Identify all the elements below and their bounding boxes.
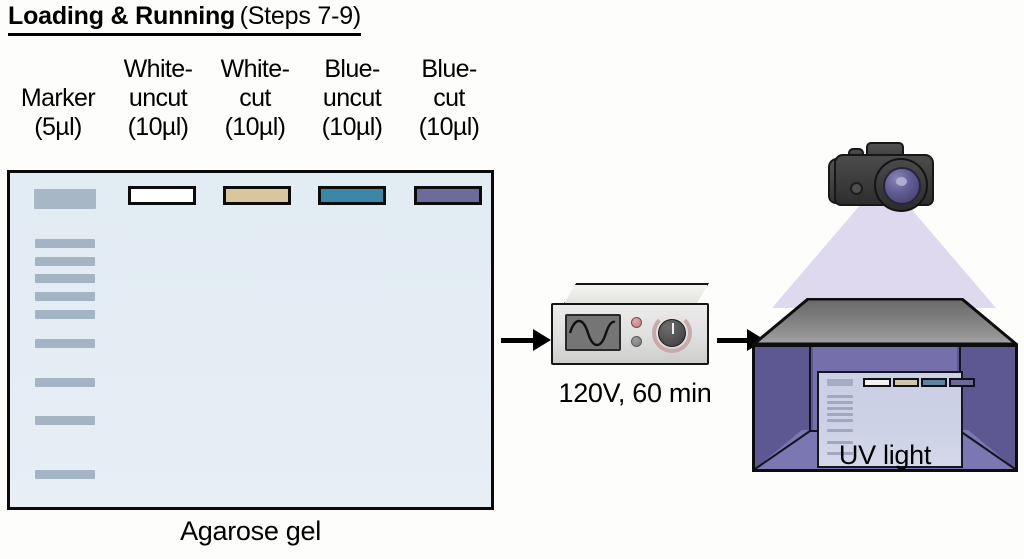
lane-label-line2: cut [208,84,302,113]
agarose-gel [7,170,494,510]
mini-well-blue-cut [949,378,975,387]
mini-well-white-uncut [863,378,891,387]
lane-label-white-cut: White- cut (10µl) [208,55,302,142]
mini-ladder-band [827,413,853,416]
lane-label-line1: White- [208,55,302,84]
mini-well-white-cut [893,378,919,387]
right-arrow-icon [533,329,551,351]
ladder-band [35,257,95,266]
lane-label-marker: Marker (5µl) [4,84,112,142]
ladder-band [35,378,95,387]
page-title: Loading & Running (Steps 7-9) [8,2,361,36]
power-supply-top-panel [563,283,709,305]
lane-label-line1: Blue- [304,55,400,84]
gel-well-blue-cut [414,186,482,205]
camera-lens-reflection [896,177,907,186]
title-bold-part: Loading & Running [8,2,235,30]
lane-label-volume: (10µl) [110,113,206,142]
mini-ladder-band [827,395,853,398]
camera-lens [874,158,928,212]
power-supply-display [565,314,621,351]
lane-label-line2: Marker [4,84,112,113]
mini-ladder-band [827,429,853,432]
uv-box-top-outline [752,298,1018,346]
power-supply-unit [551,283,721,367]
dslr-camera-icon [826,136,942,216]
arrow-shaft [501,338,535,343]
ladder-band [35,292,95,301]
lane-label-group: Marker (5µl) White- uncut (10µl) White- … [4,54,504,164]
gel-well-blue-uncut [318,186,386,205]
gel-caption: Agarose gel [7,516,494,547]
arrow-shaft [717,338,749,343]
lane-label-blue-cut: Blue- cut (10µl) [402,55,496,142]
ladder-band [35,274,95,283]
sine-wave-icon [567,316,619,349]
power-supply-led-power [631,317,642,328]
lane-label-blue-uncut: Blue- uncut (10µl) [304,55,400,142]
mini-ladder-band [827,419,853,422]
mini-well-blue-uncut [921,378,947,387]
ladder-band [35,470,95,479]
mini-ladder-band [827,401,853,404]
knob-pointer [672,323,674,334]
ladder-band [35,310,95,319]
title-regular-part: (Steps 7-9) [240,2,361,30]
lane-label-volume: (10µl) [208,113,302,142]
lane-label-white-uncut: White- uncut (10µl) [110,55,206,142]
ladder-band [35,416,95,425]
lane-label-line2: cut [402,84,496,113]
mini-ladder-band [827,407,853,410]
ladder-band [35,339,95,348]
diagram-canvas: Loading & Running (Steps 7-9) Marker (5µ… [0,0,1024,559]
camera-lens-glass [883,167,921,205]
gel-well-white-uncut [128,186,196,205]
lane-label-volume: (5µl) [4,113,112,142]
power-supply-knob[interactable] [658,319,686,347]
power-supply-led-status [631,336,642,347]
uv-light-caption: UV light [752,440,1018,471]
lane-label-line1: White- [110,55,206,84]
lane-label-volume: (10µl) [402,113,496,142]
ladder-band [35,239,95,248]
gel-well-white-cut [223,186,291,205]
lane-label-volume: (10µl) [304,113,400,142]
mini-marker-slot [827,379,853,386]
lane-label-line2: uncut [110,84,206,113]
power-supply-caption: 120V, 60 min [485,378,785,409]
camera-viewfinder-window [850,182,863,195]
lane-label-line1: Blue- [402,55,496,84]
lane-label-line2: uncut [304,84,400,113]
gel-marker-slot [34,189,96,209]
